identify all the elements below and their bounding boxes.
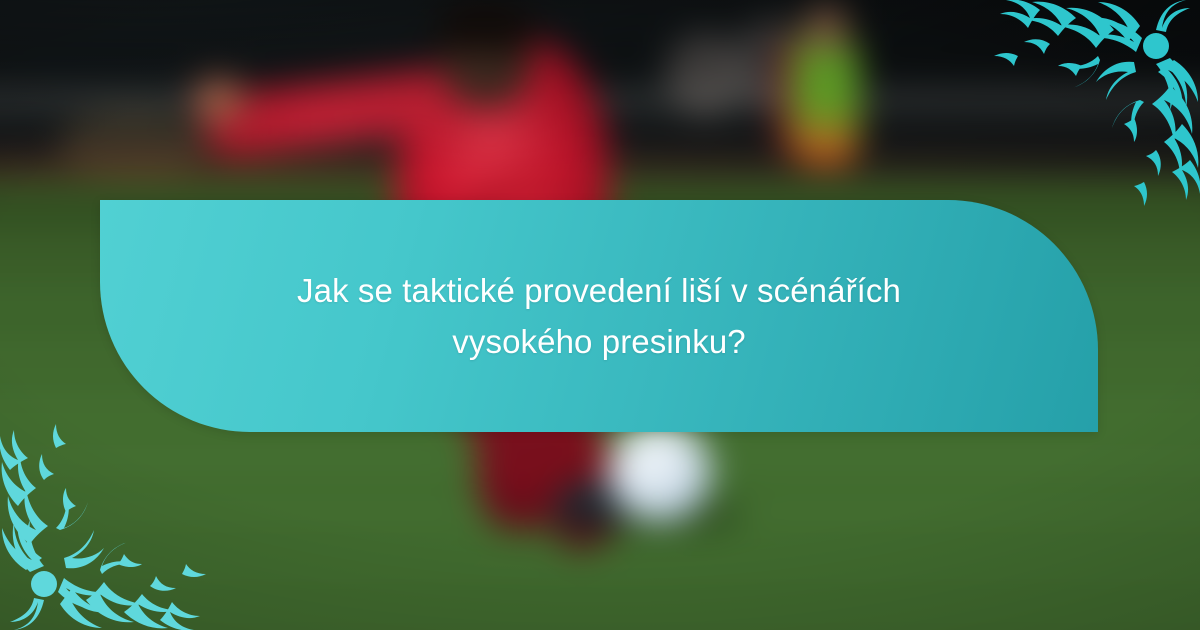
question-line-1: Jak se taktické provedení liší v scénáří… bbox=[297, 272, 901, 309]
share-card: Jak se taktické provedení liší v scénáří… bbox=[0, 0, 1200, 630]
question-banner: Jak se taktické provedení liší v scénáří… bbox=[100, 200, 1098, 432]
question-text: Jak se taktické provedení liší v scénáří… bbox=[237, 265, 961, 367]
question-line-2: vysokého presinku? bbox=[452, 323, 745, 360]
